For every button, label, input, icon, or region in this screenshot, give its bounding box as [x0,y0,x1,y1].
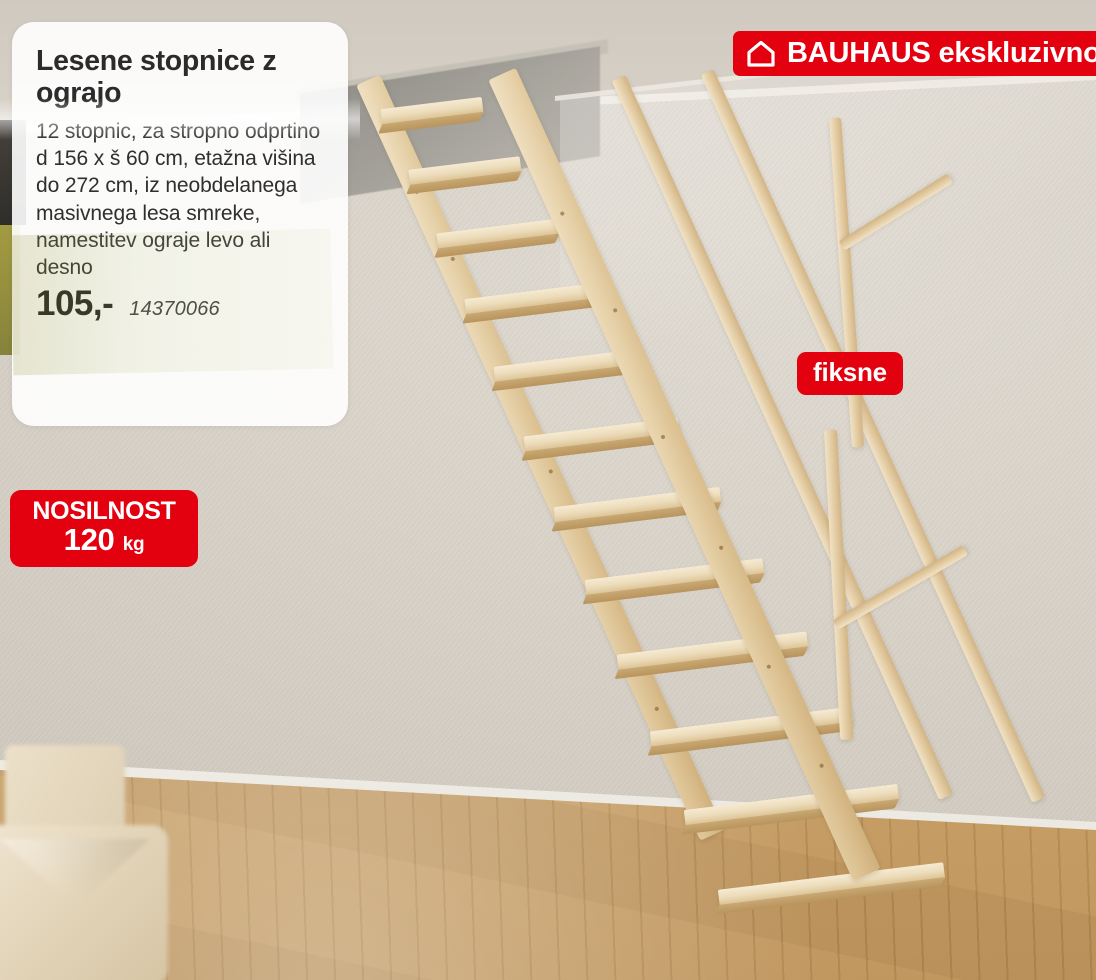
price-row: 105,- 14370066 [36,284,326,324]
product-description: 12 stopnic, za stropno odprtino d 156 x … [36,118,326,282]
load-capacity-value-row: 120 kg [20,524,188,557]
product-price: 105,- [36,284,113,324]
product-advert-image: Lesene stopnice z ograjo 12 stopnic, za … [0,0,1096,980]
load-capacity-value: 120 [64,522,115,557]
tread [718,862,945,907]
tread [436,219,559,251]
bauhaus-exclusive-badge: BAUHAUS ekskluzivno [733,31,1096,76]
product-title: Lesene stopnice z ograjo [36,46,326,110]
bauhaus-exclusive-label: BAUHAUS ekskluzivno [787,37,1096,70]
tread [380,97,483,126]
load-capacity-unit: kg [123,534,145,555]
tread [408,156,521,187]
product-info-card: Lesene stopnice z ograjo 12 stopnic, za … [12,22,348,426]
fixed-badge: fiksne [797,352,903,395]
tread [464,283,598,316]
handrail-post-upper [829,118,864,448]
load-capacity-title: NOSILNOST [20,498,188,524]
load-capacity-badge: NOSILNOST 120 kg [10,490,198,567]
fixed-badge-label: fiksne [813,357,887,387]
product-article-number: 14370066 [129,298,220,321]
handrail-brace-upper [839,174,953,251]
tread [684,784,899,827]
handrail-lower [701,69,1045,803]
house-icon [746,40,776,67]
